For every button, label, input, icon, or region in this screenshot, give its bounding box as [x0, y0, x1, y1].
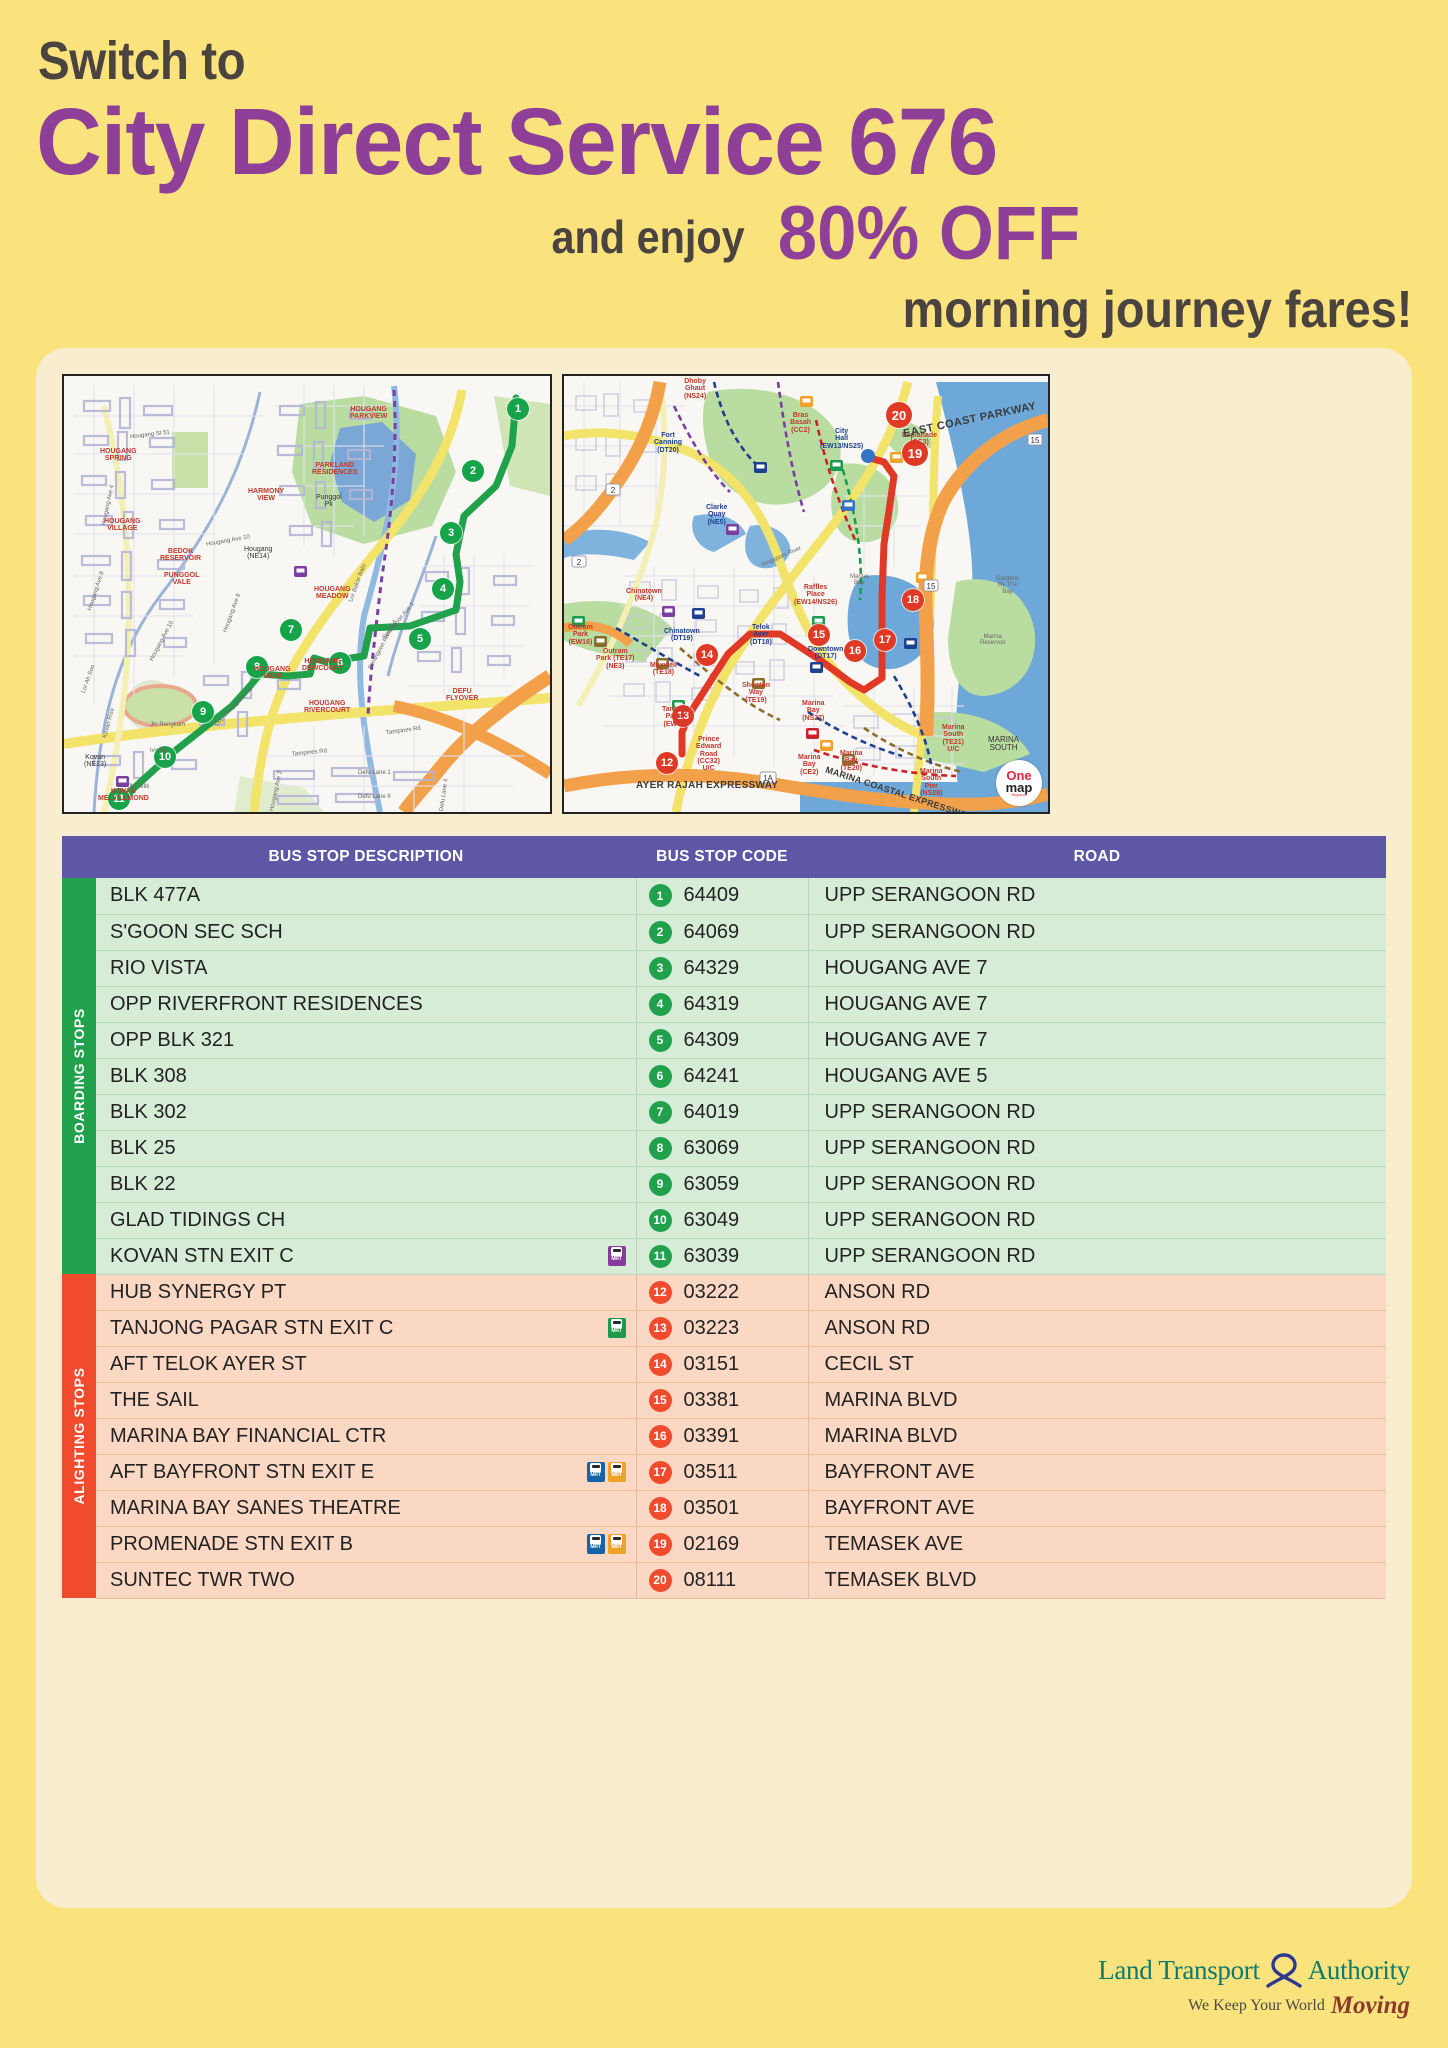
stop-number-badge: 4	[649, 993, 672, 1016]
stop-number-badge: 12	[649, 1281, 672, 1304]
cell-road: HOUGANG AVE 7	[808, 986, 1386, 1022]
cell-road: MARINA BLVD	[808, 1418, 1386, 1454]
stop-description-text: RIO VISTA	[110, 957, 207, 980]
mrt-label: MRT	[611, 1472, 621, 1478]
stop-description-text: MARINA BAY SANES THEATRE	[110, 1497, 401, 1520]
cell-bus-stop-code: 1603391	[636, 1418, 808, 1454]
bus-stop-code-text: 03511	[684, 1461, 738, 1484]
cell-road: HOUGANG AVE 7	[808, 1022, 1386, 1058]
stop-number-badge: 3	[649, 957, 672, 980]
bus-stop-code-text: 63039	[684, 1245, 740, 1268]
stop-number-badge: 2	[649, 921, 672, 944]
cell-bus-stop-code: 364329	[636, 950, 808, 986]
cell-description: THE SAIL	[96, 1382, 636, 1418]
cell-bus-stop-code: 1803501	[636, 1490, 808, 1526]
bus-stop-code-text: 63049	[684, 1209, 740, 1232]
bus-stop-code-text: 03223	[684, 1317, 740, 1340]
table-row[interactable]: THE SAIL1503381MARINA BLVD	[62, 1382, 1386, 1418]
train-glyph	[611, 1535, 622, 1544]
cell-description: BLK 308	[96, 1058, 636, 1094]
stop-number-badge: 17	[649, 1461, 672, 1484]
cell-description: TANJONG PAGAR STN EXIT CMRT	[96, 1310, 636, 1346]
table-row[interactable]: RIO VISTA364329HOUGANG AVE 7	[62, 950, 1386, 986]
cell-description: BLK 25	[96, 1130, 636, 1166]
stop-number-badge: 1	[649, 884, 672, 907]
stop-number-badge: 8	[649, 1137, 672, 1160]
mrt-green-icon: MRT	[608, 1318, 626, 1338]
bus-stop-code-text: 64329	[684, 957, 740, 980]
cell-description: MARINA BAY SANES THEATRE	[96, 1490, 636, 1526]
map-pin-20[interactable]: 20	[886, 402, 912, 428]
stop-description-text: S'GOON SEC SCH	[110, 921, 283, 944]
stop-number-badge: 10	[649, 1209, 672, 1232]
bus-stop-code-text: 64241	[684, 1065, 740, 1088]
cell-description: BLK 302	[96, 1094, 636, 1130]
table-body: BOARDING STOPSBLK 477A164409UPP SERANGOO…	[62, 878, 1386, 1598]
mrt-orange-icon: MRT	[608, 1534, 626, 1554]
headline-fares-line: morning journey fares!	[0, 280, 1412, 340]
map-pin-19[interactable]: 19	[902, 440, 928, 466]
headline-fares-text: morning journey fares!	[902, 280, 1412, 340]
cell-road: BAYFRONT AVE	[808, 1490, 1386, 1526]
mrt-icon-group: MRT	[608, 1246, 626, 1266]
stop-number-badge: 15	[649, 1389, 672, 1412]
map-pin-2[interactable]: 2	[462, 460, 484, 482]
train-glyph	[611, 1319, 622, 1328]
cell-description: HUB SYNERGY PT	[96, 1274, 636, 1310]
stop-number-badge: 14	[649, 1353, 672, 1376]
cell-description: PROMENADE STN EXIT BMRTMRT	[96, 1526, 636, 1562]
cell-description: S'GOON SEC SCH	[96, 914, 636, 950]
map-pin-1[interactable]: 1	[507, 398, 529, 420]
mrt-blue-icon: MRT	[587, 1534, 605, 1554]
bus-stop-code-text: 03151	[684, 1353, 740, 1376]
mrt-icon-group: MRT	[608, 1318, 626, 1338]
bus-stop-code-text: 08111	[684, 1569, 737, 1592]
train-glyph	[590, 1463, 601, 1472]
headline-switch-to: Switch to	[38, 30, 245, 92]
mrt-purple-icon: MRT	[608, 1246, 626, 1266]
lta-word-authority: Authority	[1308, 1955, 1410, 1986]
map-road-ayer-rajah-expressway: AYER RAJAH EXPRESSWAY	[636, 780, 778, 791]
cell-road: UPP SERANGOON RD	[808, 1238, 1386, 1274]
stop-description-text: OPP BLK 321	[110, 1029, 234, 1052]
map-pin-13[interactable]: 13	[672, 705, 694, 727]
cell-bus-stop-code: 1063049	[636, 1202, 808, 1238]
mrt-label: MRT	[611, 1544, 621, 1550]
cell-road: UPP SERANGOON RD	[808, 914, 1386, 950]
bus-stop-code-text: 64019	[684, 1101, 740, 1124]
cell-road: MARINA BLVD	[808, 1382, 1386, 1418]
cell-description: OPP RIVERFRONT RESIDENCES	[96, 986, 636, 1022]
cell-road: UPP SERANGOON RD	[808, 1202, 1386, 1238]
map-pin-8[interactable]: 8	[246, 656, 268, 678]
table-row[interactable]: AFT BAYFRONT STN EXIT EMRTMRT1703511BAYF…	[62, 1454, 1386, 1490]
svg-text:2: 2	[611, 486, 616, 495]
table-row[interactable]: KOVAN STN EXIT CMRT1163039UPP SERANGOON …	[62, 1238, 1386, 1274]
stop-number-badge: 16	[649, 1425, 672, 1448]
table-row[interactable]: OPP RIVERFRONT RESIDENCES464319HOUGANG A…	[62, 986, 1386, 1022]
stop-description-text: MARINA BAY FINANCIAL CTR	[110, 1425, 386, 1448]
bus-stop-code-text: 03501	[684, 1497, 740, 1520]
cell-bus-stop-code: 1303223	[636, 1310, 808, 1346]
cell-bus-stop-code: 664241	[636, 1058, 808, 1094]
stop-number-badge: 6	[649, 1065, 672, 1088]
table-row[interactable]: OPP BLK 321564309HOUGANG AVE 7	[62, 1022, 1386, 1058]
stop-description-text: TANJONG PAGAR STN EXIT C	[110, 1317, 393, 1340]
cell-bus-stop-code: 1703511	[636, 1454, 808, 1490]
table-row[interactable]: S'GOON SEC SCH264069UPP SERANGOON RD	[62, 914, 1386, 950]
map-pin-15[interactable]: 15	[808, 624, 830, 646]
mrt-label: MRT	[590, 1472, 600, 1478]
onemap-map-text: map	[1006, 781, 1033, 794]
mrt-icon-group: MRTMRT	[587, 1462, 626, 1482]
mrt-label: MRT	[590, 1544, 600, 1550]
stop-number-badge: 5	[649, 1029, 672, 1052]
lta-moving-word: Moving	[1331, 1992, 1410, 2020]
cell-description: MARINA BAY FINANCIAL CTR	[96, 1418, 636, 1454]
mrt-label: MRT	[611, 1328, 621, 1334]
cell-road: UPP SERANGOON RD	[808, 878, 1386, 914]
table-row[interactable]: BLK 302764019UPP SERANGOON RD	[62, 1094, 1386, 1130]
cell-bus-stop-code: 2008111	[636, 1562, 808, 1598]
bus-stop-code-text: 64309	[684, 1029, 740, 1052]
lta-logo-tagline-row: We Keep Your World Moving	[1080, 1992, 1410, 2020]
map-left-graphic	[64, 376, 550, 812]
table-head: BUS STOP DESCRIPTION BUS STOP CODE ROAD	[62, 836, 1386, 878]
map-pin-6[interactable]: 6	[329, 652, 351, 674]
cell-road: UPP SERANGOON RD	[808, 1166, 1386, 1202]
stop-description-text: BLK 22	[110, 1173, 176, 1196]
stop-description-text: BLK 302	[110, 1101, 187, 1124]
bus-stops-table: BUS STOP DESCRIPTION BUS STOP CODE ROAD …	[62, 836, 1386, 1599]
header-spacer	[62, 836, 96, 878]
lta-logo: Land Transport Authority We Keep Your Wo…	[1080, 1952, 1410, 2032]
stop-description-text: OPP RIVERFRONT RESIDENCES	[110, 993, 423, 1016]
stop-number-badge: 20	[649, 1569, 672, 1592]
bus-stop-code-text: 02169	[684, 1533, 740, 1556]
cell-description: SUNTEC TWR TWO	[96, 1562, 636, 1598]
table-header-row: BUS STOP DESCRIPTION BUS STOP CODE ROAD	[62, 836, 1386, 878]
map-pin-17[interactable]: 17	[874, 629, 896, 651]
cell-bus-stop-code: 1403151	[636, 1346, 808, 1382]
header-road: ROAD	[808, 836, 1386, 878]
cell-road: UPP SERANGOON RD	[808, 1094, 1386, 1130]
svg-text:15: 15	[927, 582, 936, 591]
cell-road: TEMASEK AVE	[808, 1526, 1386, 1562]
cell-bus-stop-code: 963059	[636, 1166, 808, 1202]
cell-description: RIO VISTA	[96, 950, 636, 986]
table-row[interactable]: ALIGHTING STOPSHUB SYNERGY PT1203222ANSO…	[62, 1274, 1386, 1310]
train-glyph	[611, 1247, 622, 1256]
stop-description-text: BLK 25	[110, 1137, 176, 1160]
cell-bus-stop-code: 1163039	[636, 1238, 808, 1274]
bus-stop-code-text: 63059	[684, 1173, 740, 1196]
cell-bus-stop-code: 863069	[636, 1130, 808, 1166]
stop-number-badge: 19	[649, 1533, 672, 1556]
cell-road: BAYFRONT AVE	[808, 1454, 1386, 1490]
headline-discount-row: and enjoy80% OFF	[0, 190, 1080, 277]
bus-stop-code-text: 03222	[684, 1281, 740, 1304]
table-row[interactable]: BLK 25863069UPP SERANGOON RD	[62, 1130, 1386, 1166]
cell-bus-stop-code: 564309	[636, 1022, 808, 1058]
stop-description-text: PROMENADE STN EXIT B	[110, 1533, 353, 1556]
headline-discount: 80% OFF	[778, 190, 1080, 277]
bus-stop-code-text: 64409	[684, 884, 740, 907]
cell-description: GLAD TIDINGS CH	[96, 1202, 636, 1238]
table-row[interactable]: AFT TELOK AYER ST1403151CECIL ST	[62, 1346, 1386, 1382]
onemap-logo: One map Singapore	[996, 760, 1042, 806]
header-bus-stop-code: BUS STOP CODE	[636, 836, 808, 878]
table-row[interactable]: BOARDING STOPSBLK 477A164409UPP SERANGOO…	[62, 878, 1386, 914]
stop-number-badge: 7	[649, 1101, 672, 1124]
map-pin-16[interactable]: 16	[844, 640, 866, 662]
bus-stop-code-text: 03381	[684, 1389, 740, 1412]
map-right-graphic: 2 2 15 15 1A	[564, 376, 1048, 812]
headline-service-title: City Direct Service 676	[36, 88, 997, 197]
table-row[interactable]: MARINA BAY SANES THEATRE1803501BAYFRONT …	[62, 1490, 1386, 1526]
bus-stop-code-text: 63069	[684, 1137, 740, 1160]
train-glyph	[590, 1535, 601, 1544]
stop-description-text: THE SAIL	[110, 1389, 199, 1412]
lta-logo-main-row: Land Transport Authority	[1080, 1952, 1410, 1988]
cell-road: ANSON RD	[808, 1274, 1386, 1310]
boarding-stops-label: BOARDING STOPS	[71, 1008, 87, 1144]
map-pin-12[interactable]: 12	[656, 752, 678, 774]
mrt-label: MRT	[611, 1256, 621, 1262]
boarding-stops-lane: BOARDING STOPS	[62, 878, 96, 1274]
map-pin-3[interactable]: 3	[440, 522, 462, 544]
mrt-orange-icon: MRT	[608, 1462, 626, 1482]
stop-description-text: HUB SYNERGY PT	[110, 1281, 286, 1304]
map-pin-10[interactable]: 10	[154, 746, 176, 768]
cell-road: TEMASEK BLVD	[808, 1562, 1386, 1598]
table-row[interactable]: GLAD TIDINGS CH1063049UPP SERANGOON RD	[62, 1202, 1386, 1238]
header-bus-stop-description: BUS STOP DESCRIPTION	[96, 836, 636, 878]
poster-root: Switch to City Direct Service 676 and en…	[0, 0, 1448, 2048]
stop-description-text: BLK 308	[110, 1065, 187, 1088]
stop-number-badge: 18	[649, 1497, 672, 1520]
bus-stop-code-text: 64069	[684, 921, 740, 944]
stop-number-badge: 9	[649, 1173, 672, 1196]
cell-bus-stop-code: 164409	[636, 878, 808, 914]
bus-stop-code-text: 64319	[684, 993, 740, 1016]
stop-description-text: AFT TELOK AYER ST	[110, 1353, 307, 1376]
table-row[interactable]: MARINA BAY FINANCIAL CTR1603391MARINA BL…	[62, 1418, 1386, 1454]
cell-bus-stop-code: 1203222	[636, 1274, 808, 1310]
cell-description: OPP BLK 321	[96, 1022, 636, 1058]
cell-bus-stop-code: 764019	[636, 1094, 808, 1130]
svg-text:2: 2	[577, 558, 582, 567]
onemap-sg-text: Singapore	[1011, 794, 1026, 797]
stop-number-badge: 13	[649, 1317, 672, 1340]
table-row[interactable]: SUNTEC TWR TWO2008111TEMASEK BLVD	[62, 1562, 1386, 1598]
bus-stops-table-wrapper: BUS STOP DESCRIPTION BUS STOP CODE ROAD …	[62, 836, 1386, 1599]
map-pin-5[interactable]: 5	[409, 628, 431, 650]
map-alighting-city[interactable]: 2 2 15 15 1A 12 13 14 15 16	[562, 374, 1050, 814]
cell-bus-stop-code: 1503381	[636, 1382, 808, 1418]
cell-description: BLK 22	[96, 1166, 636, 1202]
lta-tagline: We Keep Your World	[1188, 1997, 1325, 2015]
map-boarding-hougang[interactable]: 1 2 3 4 5 6 7 8 9 10 11 HOUGANGSPRING HO…	[62, 374, 552, 814]
cell-bus-stop-code: 464319	[636, 986, 808, 1022]
table-row[interactable]: BLK 22963059UPP SERANGOON RD	[62, 1166, 1386, 1202]
lta-ribbon-icon	[1264, 1952, 1304, 1988]
cell-bus-stop-code: 1902169	[636, 1526, 808, 1562]
lta-ribbon-svg	[1264, 1952, 1304, 1988]
cell-road: UPP SERANGOON RD	[808, 1130, 1386, 1166]
cell-description: AFT BAYFRONT STN EXIT EMRTMRT	[96, 1454, 636, 1490]
map-pin-14[interactable]: 14	[696, 644, 718, 666]
stop-description-text: KOVAN STN EXIT C	[110, 1245, 294, 1268]
cell-road: HOUGANG AVE 5	[808, 1058, 1386, 1094]
map-pin-7[interactable]: 7	[280, 619, 302, 641]
table-row[interactable]: TANJONG PAGAR STN EXIT CMRT1303223ANSON …	[62, 1310, 1386, 1346]
map-pin-18[interactable]: 18	[902, 589, 924, 611]
cell-description: BLK 477A	[96, 878, 636, 914]
mrt-blue-icon: MRT	[587, 1462, 605, 1482]
train-glyph	[611, 1463, 622, 1472]
cell-road: HOUGANG AVE 7	[808, 950, 1386, 986]
cell-description: KOVAN STN EXIT CMRT	[96, 1238, 636, 1274]
content-card: 1 2 3 4 5 6 7 8 9 10 11 HOUGANGSPRING HO…	[36, 348, 1412, 1908]
alighting-stops-lane: ALIGHTING STOPS	[62, 1274, 96, 1598]
stop-description-text: BLK 477A	[110, 884, 200, 907]
maps-container: 1 2 3 4 5 6 7 8 9 10 11 HOUGANGSPRING HO…	[62, 374, 1050, 814]
cell-description: AFT TELOK AYER ST	[96, 1346, 636, 1382]
bus-stop-code-text: 03391	[684, 1425, 740, 1448]
table-row[interactable]: PROMENADE STN EXIT BMRTMRT1902169TEMASEK…	[62, 1526, 1386, 1562]
lta-word-land-transport: Land Transport	[1098, 1955, 1260, 1986]
alighting-stops-label: ALIGHTING STOPS	[71, 1367, 87, 1504]
map-pin-4[interactable]: 4	[432, 578, 454, 600]
stop-description-text: SUNTEC TWR TWO	[110, 1569, 295, 1592]
cell-road: CECIL ST	[808, 1346, 1386, 1382]
cell-bus-stop-code: 264069	[636, 914, 808, 950]
headline-and-enjoy: and enjoy	[552, 210, 745, 264]
stop-description-text: AFT BAYFRONT STN EXIT E	[110, 1461, 374, 1484]
cell-road: ANSON RD	[808, 1310, 1386, 1346]
map-pin-9[interactable]: 9	[192, 701, 214, 723]
svg-text:15: 15	[1031, 436, 1040, 445]
stop-description-text: GLAD TIDINGS CH	[110, 1209, 285, 1232]
map-pin-11[interactable]: 11	[108, 788, 130, 810]
table-row[interactable]: BLK 308664241HOUGANG AVE 5	[62, 1058, 1386, 1094]
mrt-icon-group: MRTMRT	[587, 1534, 626, 1554]
stop-number-badge: 11	[649, 1245, 672, 1268]
